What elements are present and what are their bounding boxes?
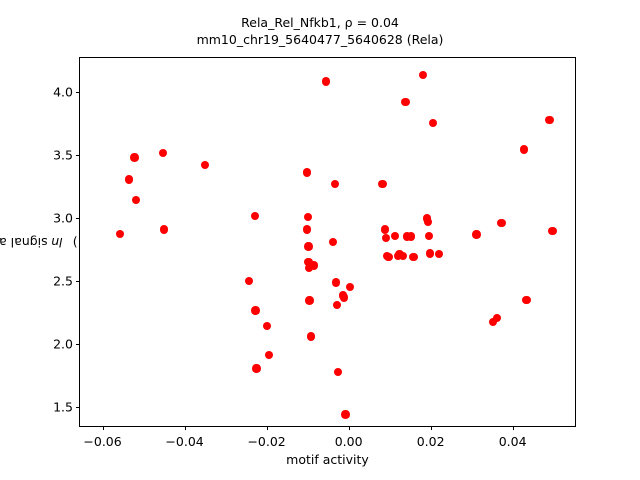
data-point — [130, 153, 138, 161]
chart-title: Rela_Rel_Nfkb1, ρ = 0.04 mm10_chr19_5640… — [0, 14, 640, 48]
data-point — [409, 253, 417, 261]
data-point — [304, 213, 312, 221]
data-point — [522, 296, 530, 304]
data-point — [426, 249, 434, 257]
data-point — [331, 180, 339, 188]
y-tick-label: 1.5 — [53, 400, 73, 415]
data-point — [341, 410, 349, 418]
data-point — [435, 250, 443, 258]
scatter-plot-figure: Rela_Rel_Nfkb1, ρ = 0.04 mm10_chr19_5640… — [0, 0, 640, 480]
data-point — [382, 234, 390, 242]
data-point — [381, 225, 389, 233]
data-point — [304, 242, 312, 250]
data-point — [116, 230, 124, 238]
data-point — [407, 232, 415, 240]
y-axis-label-suffix: ) — [0, 235, 78, 250]
x-tick-mark — [267, 426, 268, 430]
data-point — [303, 168, 311, 176]
y-tick-mark — [76, 407, 80, 408]
data-point — [159, 149, 167, 157]
y-tick-label: 2.0 — [53, 337, 73, 352]
chart-title-line-2: mm10_chr19_5640477_5640628 (Rela) — [0, 31, 640, 48]
data-point — [132, 196, 140, 204]
data-point — [493, 314, 501, 322]
data-point — [307, 332, 315, 340]
data-point — [472, 230, 480, 238]
y-tick-mark — [76, 281, 80, 282]
data-point — [334, 368, 342, 376]
data-point — [333, 301, 341, 309]
y-tick-label: 2.5 — [53, 274, 73, 289]
data-point — [125, 175, 133, 183]
data-point — [265, 351, 273, 359]
x-tick-mark — [513, 426, 514, 430]
data-point — [548, 227, 556, 235]
x-tick-mark — [185, 426, 186, 430]
data-point — [263, 322, 271, 330]
y-tick-label: 3.0 — [53, 211, 73, 226]
data-point — [401, 98, 409, 106]
x-tick-mark — [103, 426, 104, 430]
x-tick-label: 0.02 — [417, 434, 445, 449]
data-point — [419, 71, 427, 79]
x-tick-label: −0.02 — [247, 434, 285, 449]
x-tick-label: 0.04 — [499, 434, 527, 449]
data-point — [160, 225, 168, 233]
y-tick-label: 3.5 — [53, 148, 73, 163]
x-tick-label: −0.06 — [83, 434, 121, 449]
plot-axes: 1.52.02.53.03.54.0 −0.06−0.04−0.020.000.… — [79, 57, 576, 427]
y-tick-mark — [76, 155, 80, 156]
x-tick-mark — [431, 426, 432, 430]
data-point — [425, 232, 433, 240]
data-point — [424, 218, 432, 226]
data-point — [378, 180, 386, 188]
data-point — [251, 212, 259, 220]
x-axis-label: motif activity — [79, 452, 576, 467]
data-point — [201, 161, 209, 169]
data-point — [399, 252, 407, 260]
data-point — [429, 119, 437, 127]
x-tick-mark — [349, 426, 350, 430]
y-tick-label: 4.0 — [53, 85, 73, 100]
data-point — [391, 232, 399, 240]
data-point — [303, 225, 311, 233]
data-point — [251, 306, 259, 314]
data-point — [245, 277, 253, 285]
x-tick-label: 0.00 — [335, 434, 363, 449]
x-tick-label: −0.04 — [165, 434, 203, 449]
data-point — [322, 77, 330, 85]
data-point — [384, 253, 392, 261]
data-point — [310, 261, 318, 269]
y-tick-mark — [76, 344, 80, 345]
data-point — [545, 116, 553, 124]
y-tick-mark — [76, 92, 80, 93]
data-point — [340, 293, 348, 301]
data-point — [346, 283, 354, 291]
y-axis-label: signal at CRE (ln) — [8, 57, 26, 427]
data-point — [332, 278, 340, 286]
data-point — [305, 296, 313, 304]
data-point — [520, 145, 528, 153]
chart-title-line-1: Rela_Rel_Nfkb1, ρ = 0.04 — [0, 14, 640, 31]
data-point — [497, 219, 505, 227]
data-point — [329, 238, 337, 246]
y-tick-mark — [76, 218, 80, 219]
data-points-layer — [80, 58, 575, 426]
data-point — [252, 364, 260, 372]
